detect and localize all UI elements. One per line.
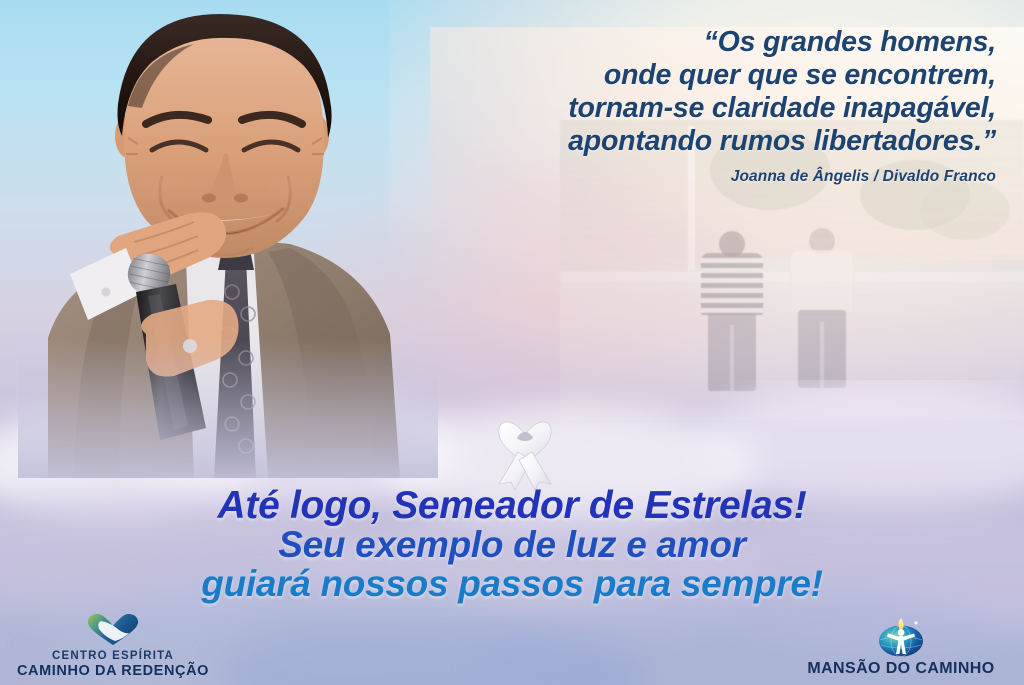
ghost-person-white-shirt (782, 228, 862, 396)
logo-left-line-1: CENTRO ESPÍRITA (8, 650, 218, 663)
ghost-person-striped-shirt (692, 231, 772, 396)
ghost-palm (920, 180, 1010, 240)
quote-line-4: apontando rumos libertadores.” (376, 125, 996, 158)
logo-centro-espirita: CENTRO ESPÍRITA CAMINHO DA REDENÇÃO (8, 611, 218, 679)
ghost-legs (798, 310, 846, 388)
ghost-torso (701, 253, 763, 315)
logo-left-line-2: CAMINHO DA REDENÇÃO (8, 663, 218, 679)
portrait-photo (18, 8, 438, 478)
headline-line-3: guiará nossos passos para sempre! (0, 564, 1024, 603)
globe-figure-flame-icon (872, 614, 930, 658)
logo-right-line-2: MANSÃO DO CAMINHO (786, 661, 1016, 677)
quote-attribution: Joanna de Ângelis / Divaldo Franco (376, 168, 996, 186)
logo-mansao-do-caminho: MANSÃO DO CAMINHO (786, 614, 1016, 677)
memorial-poster: “Os grandes homens, onde quer que se enc… (0, 0, 1024, 685)
headline-line-1: Até logo, Semeador de Estrelas! (0, 486, 1024, 525)
quote-line-1: “Os grandes homens, (376, 26, 996, 59)
quote-line-3: tornam-se claridade inapagável, (376, 92, 996, 125)
quote-line-2: onde quer que se encontrem, (376, 59, 996, 92)
ghost-torso (790, 250, 854, 314)
headline-block: Até logo, Semeador de Estrelas! Seu exem… (0, 486, 1024, 603)
headline-line-2: Seu exemplo de luz e amor (0, 525, 1024, 564)
quote-block: “Os grandes homens, onde quer que se enc… (376, 26, 996, 186)
hands-heart-icon (85, 611, 141, 647)
mourning-ribbon (487, 408, 563, 492)
ribbon-icon (499, 422, 551, 490)
